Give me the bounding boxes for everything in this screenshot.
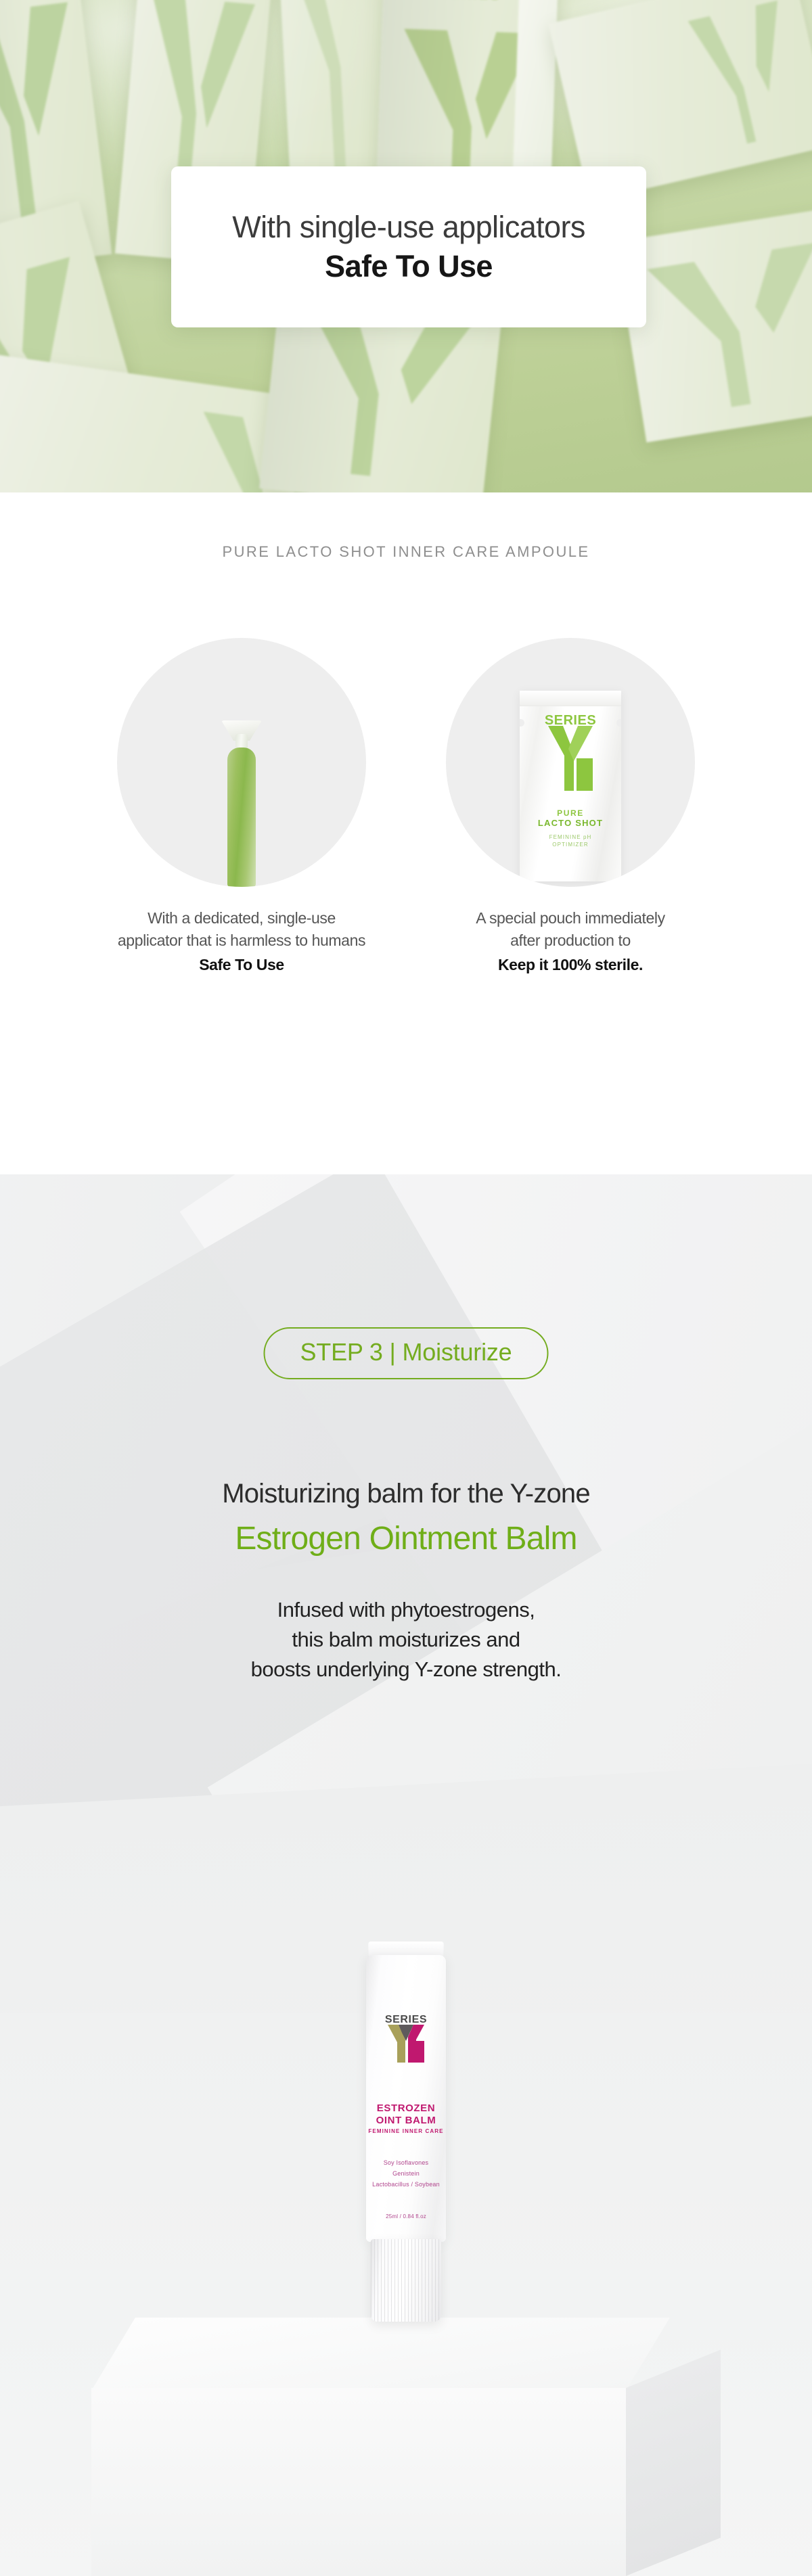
feature-item-pouch: SERIES PURE LACTO SHOT FEMININE pH OPTIM…: [428, 638, 713, 976]
tube-logo: SERIES: [366, 2015, 446, 2063]
carton-y-mark: [631, 225, 812, 428]
feature-item-applicator: With a dedicated, single-use applicator …: [99, 638, 384, 976]
carton-brand-text: SERIES: [383, 0, 558, 5]
pouch-caption: A special pouch immediately after produc…: [476, 907, 664, 976]
applicator-stem: [227, 747, 256, 887]
podium-top-face: [91, 2318, 670, 2391]
ampoule-feature-list: With a dedicated, single-use applicator …: [0, 638, 812, 976]
hero-section: SERIES SERI: [0, 0, 812, 492]
step-body-line1: Infused with phytoestrogens,: [277, 1598, 535, 1621]
y-logo-icon: [679, 0, 812, 162]
hero-headline-card: With single-use applicators Safe To Use: [171, 166, 646, 327]
tube-cap: [371, 2239, 441, 2322]
y-logo-icon: [631, 225, 812, 428]
podium-front-face: [91, 2388, 626, 2576]
pouch-caption-strong: Keep it 100% sterile.: [476, 954, 664, 976]
pouch-notch-right: [616, 719, 621, 727]
sterile-pouch-icon: SERIES PURE LACTO SHOT FEMININE pH OPTIM…: [520, 691, 621, 881]
pouch-y-logo-icon: [548, 726, 593, 791]
pouch-subtitle-line1: FEMININE pH: [549, 834, 592, 840]
applicator-caption-line2: applicator that is harmless to humans: [118, 931, 365, 949]
tube-ingredient-line2: Genistein: [392, 2170, 420, 2177]
hero-headline-subtitle: With single-use applicators: [232, 210, 585, 245]
carton-y-mark: [285, 0, 392, 189]
ampoule-section-eyebrow: PURE LACTO SHOT INNER CARE AMPOULE: [0, 543, 812, 561]
pouch-caption-line2: after production to: [510, 931, 631, 949]
tube-ingredients: Soy Isoflavones Genistein Lactobacillus …: [366, 2158, 446, 2190]
estrozen-ointment-balm-tube: SERIES ESTROZEN OINT BALM FEMININE INNER…: [366, 1941, 446, 2327]
tube-y-logo-icon: [388, 2025, 424, 2063]
step-body-copy: Infused with phytoestrogens, this balm m…: [0, 1595, 812, 1684]
pouch-brand-text: SERIES: [545, 714, 596, 727]
podium-right-face: [626, 2349, 721, 2576]
applicator-caption-line1: With a dedicated, single-use: [148, 909, 336, 927]
applicator-photo-circle: [117, 638, 366, 887]
pouch-subtitle-line2: OPTIMIZER: [552, 842, 588, 848]
tube-body: SERIES ESTROZEN OINT BALM FEMININE INNER…: [366, 1955, 446, 2242]
tube-volume: 25ml / 0.84 fl.oz: [366, 2213, 446, 2219]
carton-y-mark: [679, 0, 812, 162]
pouch-product-name-2: LACTO SHOT: [538, 818, 603, 828]
y-logo-icon: [285, 0, 392, 189]
applicator-icon: [222, 719, 261, 887]
tube-brand-text: SERIES: [385, 2015, 427, 2025]
step-body-line2: this balm moisturizes and: [292, 1628, 520, 1651]
pouch-subtitle: FEMININE pH OPTIMIZER: [549, 833, 592, 848]
pouch-product-name-1: PURE: [557, 808, 584, 818]
tube-product-name-line1: ESTROZEN: [377, 2102, 435, 2114]
pouch-photo-circle: SERIES PURE LACTO SHOT FEMININE pH OPTIM…: [446, 638, 695, 887]
ampoule-section: PURE LACTO SHOT INNER CARE AMPOULE With …: [0, 492, 812, 1174]
step-body-line3: boosts underlying Y-zone strength.: [251, 1657, 562, 1681]
step-heading-product: Estrogen Ointment Balm: [0, 1520, 812, 1557]
tube-subtitle: FEMININE INNER CARE: [366, 2128, 446, 2134]
step3-section: STEP 3 | Moisturize Moisturizing balm fo…: [0, 1174, 812, 2576]
applicator-caption: With a dedicated, single-use applicator …: [118, 907, 365, 976]
tube-ingredient-line1: Soy Isoflavones: [384, 2159, 429, 2166]
step3-content: STEP 3 | Moisturize Moisturizing balm fo…: [0, 1174, 812, 2576]
pouch-caption-line1: A special pouch immediately: [476, 909, 664, 927]
pouch-notch-left: [520, 719, 524, 727]
applicator-caption-strong: Safe To Use: [118, 954, 365, 976]
tube-ingredient-line3: Lactobacillus / Soybean: [372, 2181, 440, 2188]
tube-product-name: ESTROZEN OINT BALM: [366, 2102, 446, 2126]
product-podium: [91, 2318, 721, 2576]
step-badge: STEP 3 | Moisturize: [264, 1327, 549, 1379]
product-detail-page: SERIES SERI: [0, 0, 812, 2576]
step-heading-small: Moisturizing balm for the Y-zone: [0, 1479, 812, 1509]
tube-product-name-line2: OINT BALM: [376, 2115, 436, 2126]
hero-headline-title: Safe To Use: [325, 249, 493, 284]
